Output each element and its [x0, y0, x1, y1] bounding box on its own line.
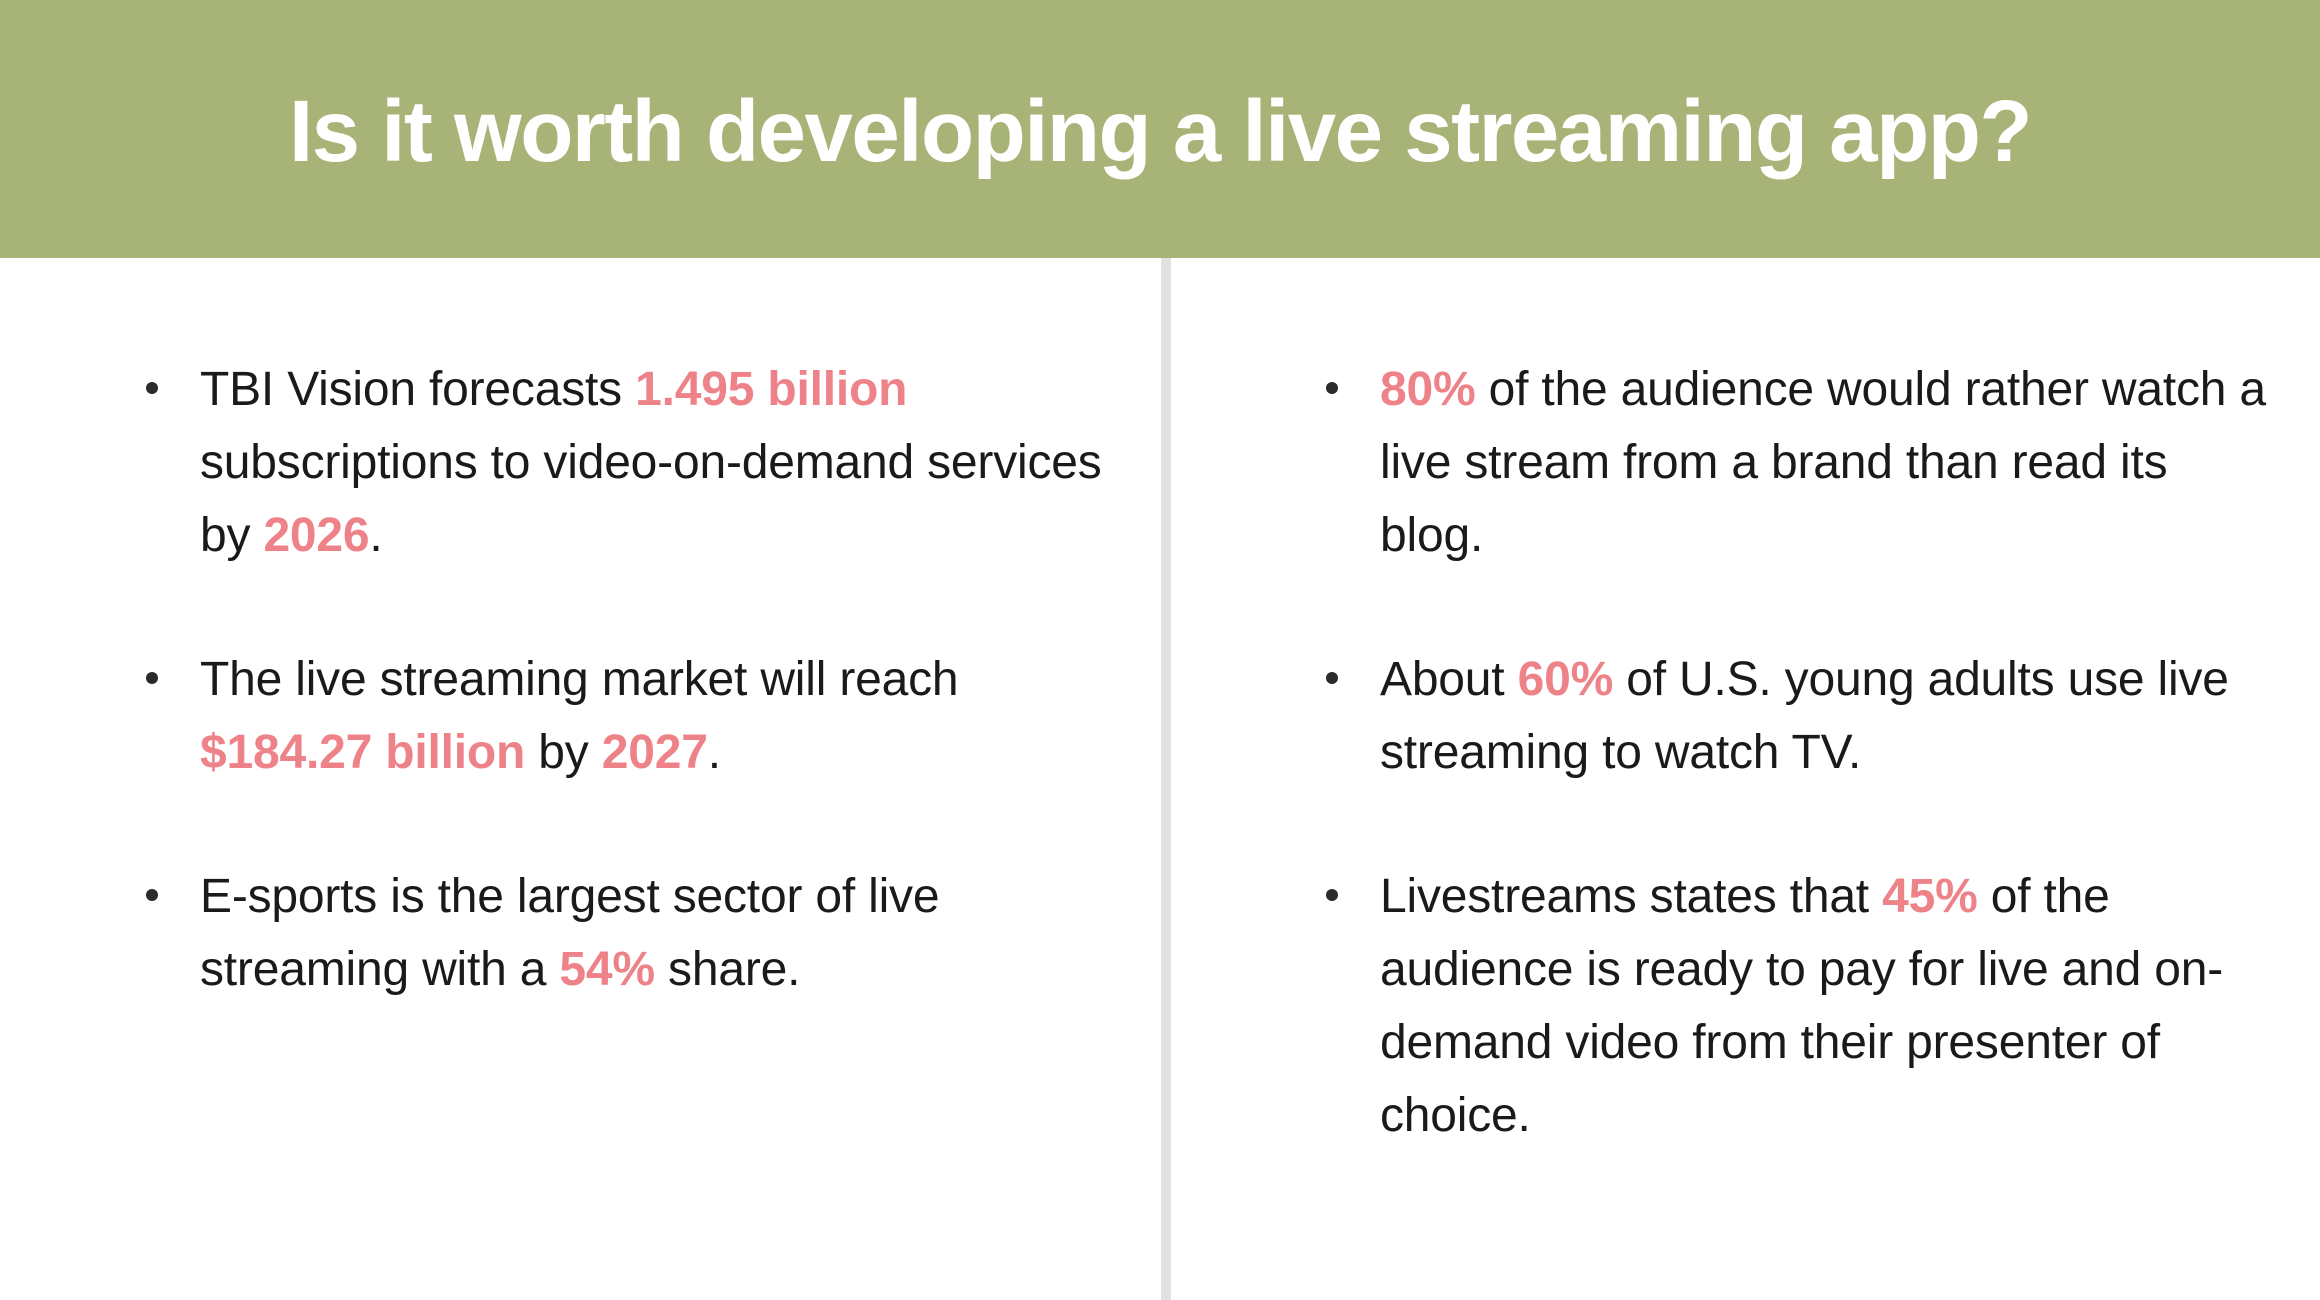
- plain-text: share.: [655, 943, 800, 996]
- highlighted-stat: 60%: [1518, 653, 1613, 706]
- list-item-text: About 60% of U.S. young adults use live …: [1380, 653, 2229, 779]
- plain-text: by: [525, 726, 602, 779]
- highlighted-stat: 45%: [1882, 870, 1977, 923]
- slide-root: Is it worth developing a live streaming …: [0, 0, 2320, 1300]
- plain-text: .: [369, 509, 382, 562]
- highlighted-stat: 80%: [1380, 363, 1475, 416]
- list-item: About 60% of U.S. young adults use live …: [1320, 643, 2270, 789]
- bullet-dot-icon: [1326, 672, 1338, 684]
- bullet-dot-icon: [1326, 382, 1338, 394]
- highlighted-stat: 1.495 billion: [635, 363, 907, 416]
- plain-text: The live streaming market will reach: [200, 653, 958, 706]
- plain-text: Livestreams states that: [1380, 870, 1882, 923]
- list-item-text: Livestreams states that 45% of the audie…: [1380, 870, 2223, 1142]
- content-area: TBI Vision forecasts 1.495 billion subsc…: [0, 258, 2320, 1300]
- plain-text: .: [708, 726, 721, 779]
- highlighted-stat: 54%: [559, 943, 654, 996]
- plain-text: About: [1380, 653, 1518, 706]
- list-item: TBI Vision forecasts 1.495 billion subsc…: [140, 353, 1140, 572]
- list-item-text: TBI Vision forecasts 1.495 billion subsc…: [200, 363, 1102, 562]
- bullet-column-right: 80% of the audience would rather watch a…: [1320, 258, 2270, 1152]
- bullet-column-left: TBI Vision forecasts 1.495 billion subsc…: [140, 258, 1140, 1006]
- column-divider: [1161, 258, 1171, 1300]
- bullet-dot-icon: [1326, 889, 1338, 901]
- highlighted-stat: $184.27 billion: [200, 726, 525, 779]
- header-band: Is it worth developing a live streaming …: [0, 0, 2320, 258]
- list-item: 80% of the audience would rather watch a…: [1320, 353, 2270, 572]
- plain-text: TBI Vision forecasts: [200, 363, 635, 416]
- page-title: Is it worth developing a live streaming …: [289, 84, 2031, 175]
- list-item: E-sports is the largest sector of live s…: [140, 860, 1140, 1006]
- bullet-dot-icon: [146, 889, 158, 901]
- plain-text: of the audience would rather watch a liv…: [1380, 363, 2266, 562]
- list-item-text: 80% of the audience would rather watch a…: [1380, 363, 2266, 562]
- bullet-dot-icon: [146, 382, 158, 394]
- highlighted-stat: 2026: [263, 509, 369, 562]
- list-item-text: E-sports is the largest sector of live s…: [200, 870, 939, 996]
- bullet-dot-icon: [146, 672, 158, 684]
- highlighted-stat: 2027: [602, 726, 708, 779]
- list-item: The live streaming market will reach $18…: [140, 643, 1140, 789]
- list-item-text: The live streaming market will reach $18…: [200, 653, 958, 779]
- list-item: Livestreams states that 45% of the audie…: [1320, 860, 2270, 1152]
